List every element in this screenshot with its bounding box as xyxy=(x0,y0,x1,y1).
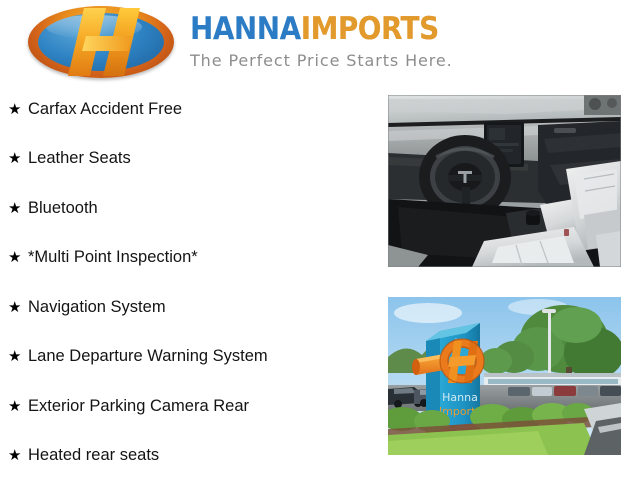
emblem-h-letter-icon xyxy=(28,6,174,78)
feature-label: Carfax Accident Free xyxy=(28,101,182,118)
star-bullet-icon: ★ xyxy=(8,399,28,414)
brand-tagline: The Perfect Price Starts Here. xyxy=(190,51,453,70)
brand-logo[interactable]: HANNAIMPORTS The Perfect Price Starts He… xyxy=(28,6,453,78)
hanna-emblem-icon xyxy=(28,6,174,78)
star-bullet-icon: ★ xyxy=(8,102,28,117)
feature-label: Exterior Parking Camera Rear xyxy=(28,398,249,415)
feature-label: Lane Departure Warning System xyxy=(28,348,268,365)
brand-name: HANNAIMPORTS xyxy=(190,14,453,45)
svg-text:Hanna: Hanna xyxy=(442,391,478,404)
feature-item: ★Lane Departure Warning System xyxy=(8,346,268,368)
feature-item: ★*Multi Point Inspection* xyxy=(8,247,198,269)
feature-item: ★Navigation System xyxy=(8,296,166,318)
star-bullet-icon: ★ xyxy=(8,300,28,315)
feature-label: Heated rear seats xyxy=(28,447,159,464)
star-bullet-icon: ★ xyxy=(8,448,28,463)
brand-name-hanna: HANNA xyxy=(190,11,301,47)
feature-label: *Multi Point Inspection* xyxy=(28,249,198,266)
feature-label: Navigation System xyxy=(28,299,166,316)
vehicle-interior-photo[interactable] xyxy=(388,95,621,267)
dealership-sign-photo[interactable]: 340 Hanna Imports xyxy=(388,297,621,455)
brand-wordmark: HANNAIMPORTS The Perfect Price Starts He… xyxy=(190,14,453,70)
star-bullet-icon: ★ xyxy=(8,151,28,166)
feature-label: Bluetooth xyxy=(28,200,98,217)
feature-item: ★Bluetooth xyxy=(8,197,98,219)
vehicle-feature-list: ★Carfax Accident Free★Leather Seats★Blue… xyxy=(0,88,380,480)
brand-name-imports: IMPORTS xyxy=(301,11,439,47)
feature-label: Leather Seats xyxy=(28,150,131,167)
feature-item: ★Exterior Parking Camera Rear xyxy=(8,395,249,417)
feature-item: ★Leather Seats xyxy=(8,148,131,170)
star-bullet-icon: ★ xyxy=(8,349,28,364)
feature-item: ★Heated rear seats xyxy=(8,445,159,467)
brand-header: HANNAIMPORTS The Perfect Price Starts He… xyxy=(0,0,640,88)
star-bullet-icon: ★ xyxy=(8,250,28,265)
feature-item: ★Carfax Accident Free xyxy=(8,98,182,120)
star-bullet-icon: ★ xyxy=(8,201,28,216)
